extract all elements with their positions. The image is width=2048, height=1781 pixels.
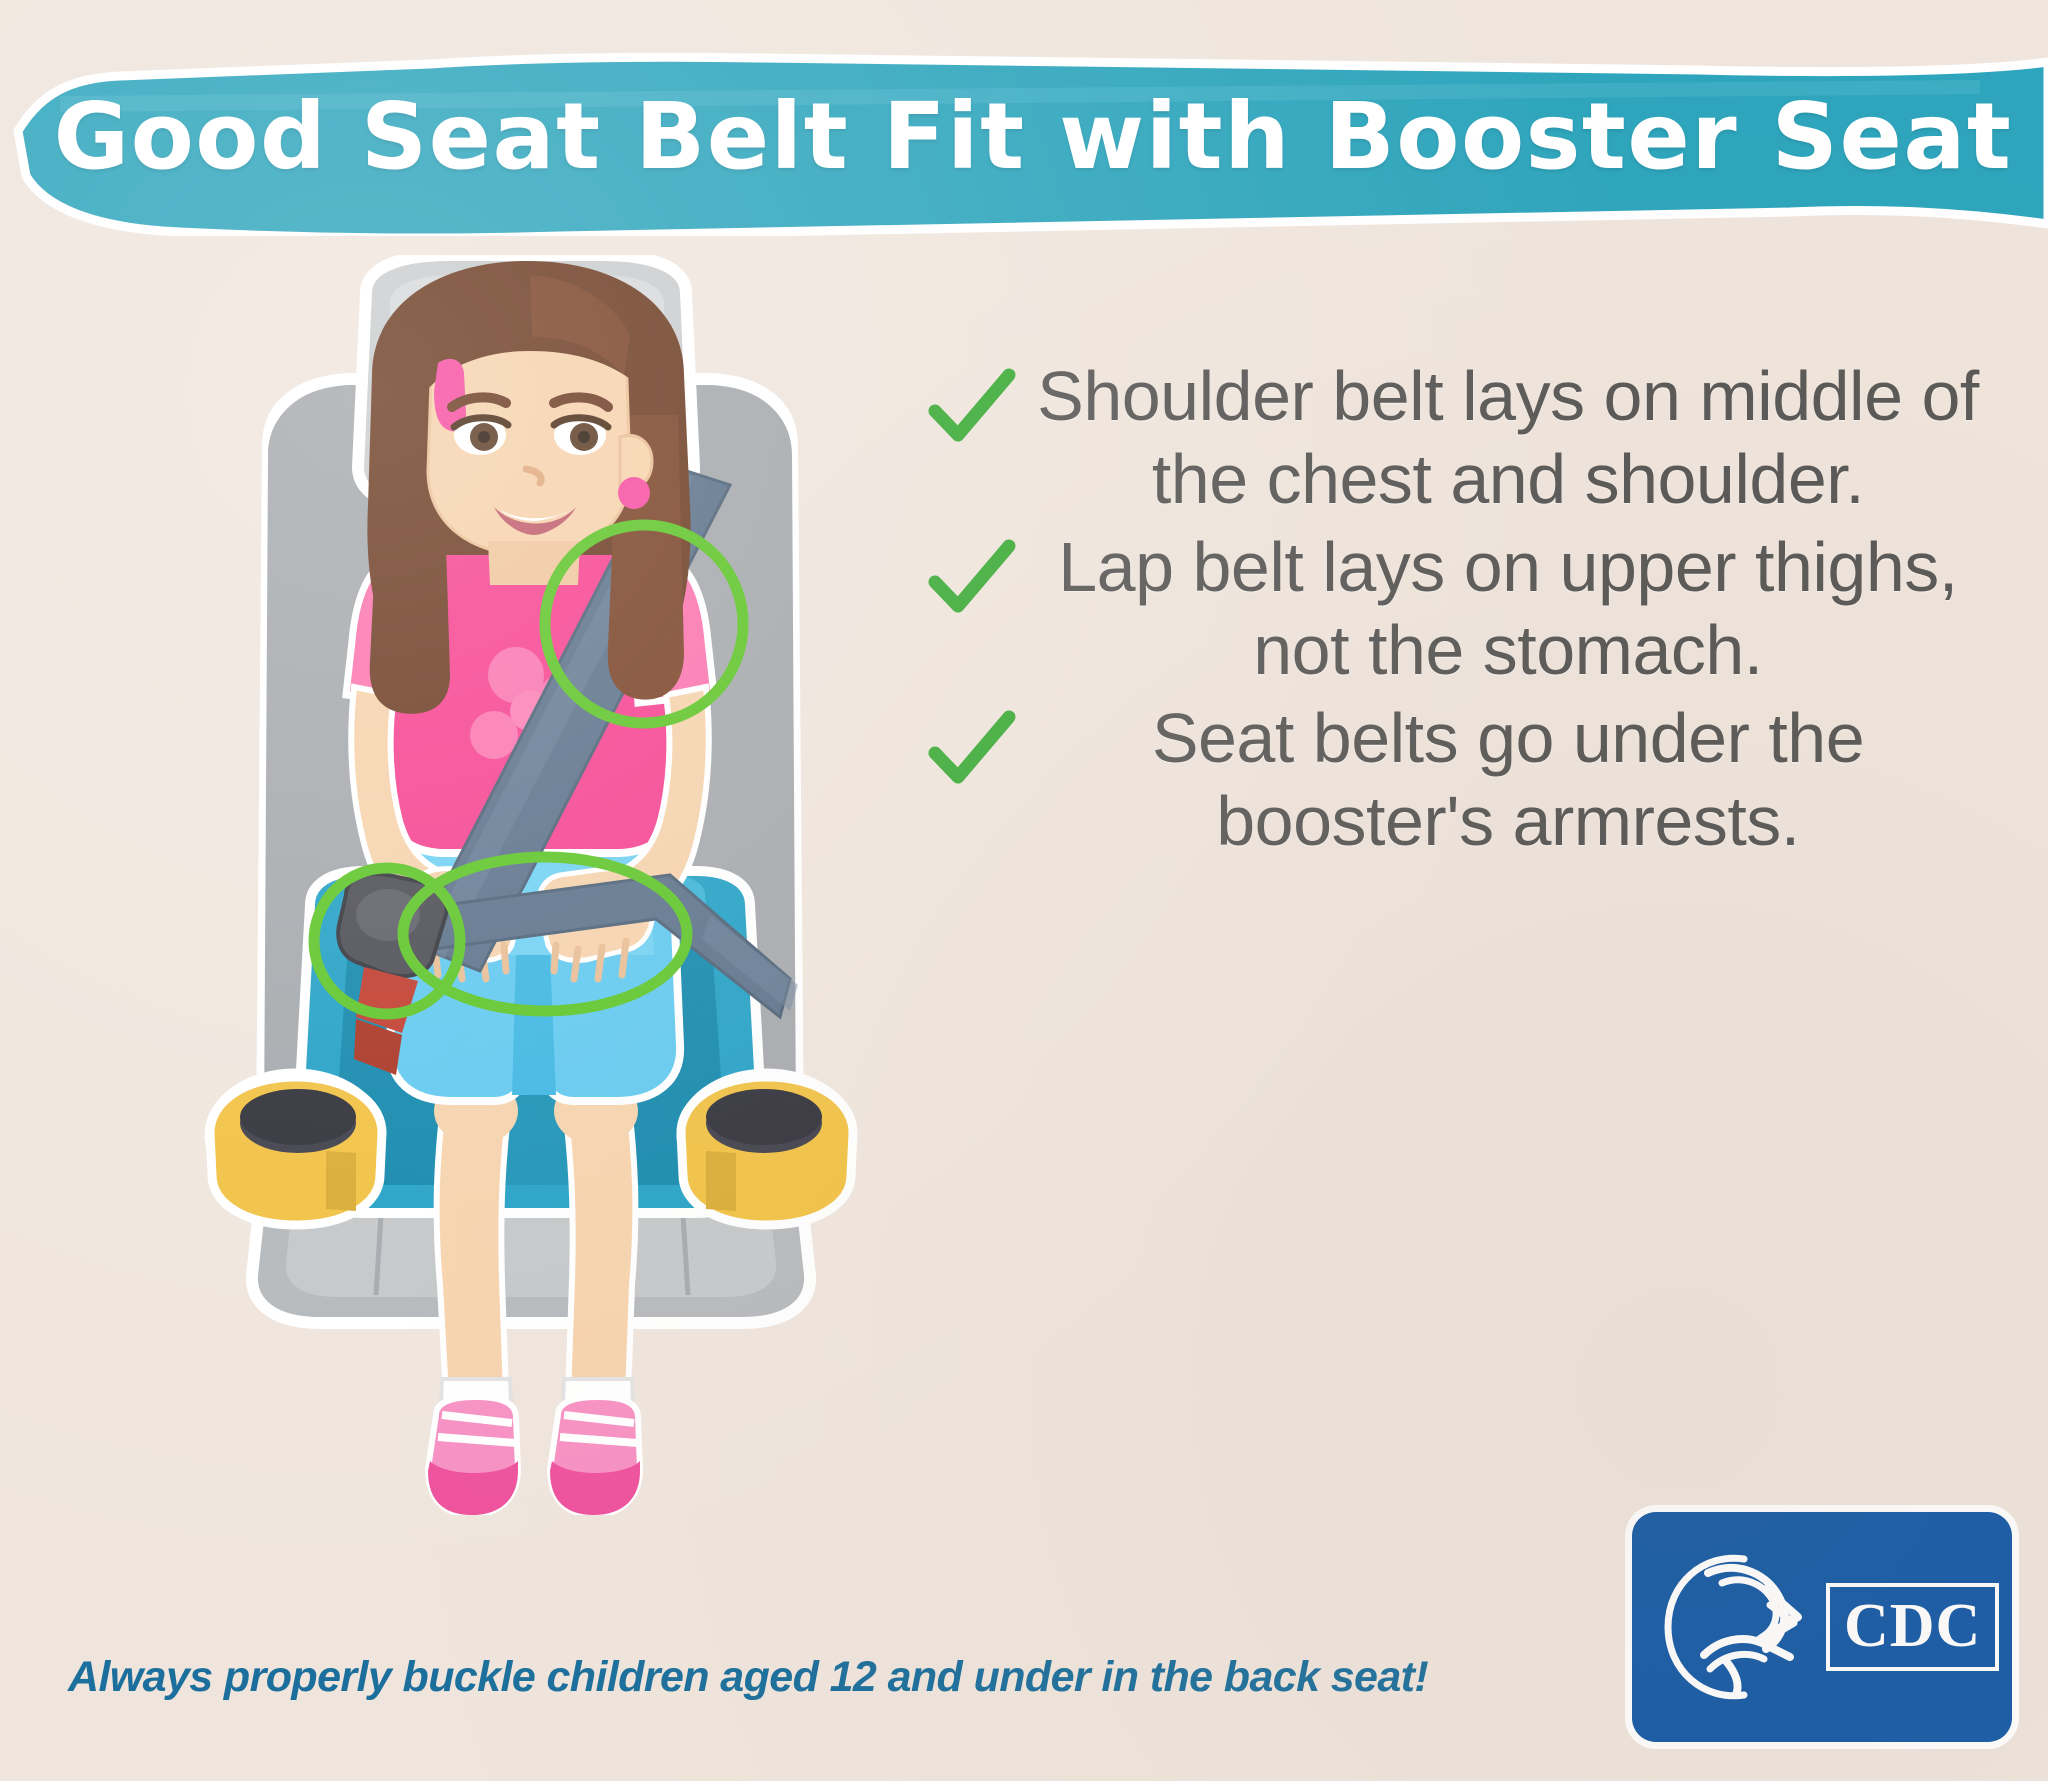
green-checkmark-icon	[925, 363, 1017, 455]
list-item: Lap belt lays on upper thighs, not the s…	[925, 526, 2005, 691]
booster-armrest-left	[209, 1073, 382, 1225]
list-item: Shoulder belt lays on middle of the ches…	[925, 355, 2005, 520]
page-title: Good Seat Belt Fit with Booster Seat	[0, 36, 2048, 236]
list-item: Seat belts go under the booster's armres…	[925, 697, 2005, 862]
tip-text: Shoulder belt lays on middle of the ches…	[1017, 355, 2005, 520]
booster-armrest-right	[681, 1073, 853, 1225]
infographic-poster: Good Seat Belt Fit with Booster Seat	[0, 0, 2048, 1781]
cdc-logo: CDC	[1632, 1512, 2012, 1742]
illustration-canvas	[150, 255, 910, 1515]
tip-text: Seat belts go under the booster's armres…	[1017, 697, 2005, 862]
green-checkmark-icon	[925, 705, 1017, 797]
green-checkmark-icon	[925, 534, 1017, 626]
footer-caption: Always properly buckle children aged 12 …	[68, 1653, 1568, 1702]
tip-text: Lap belt lays on upper thighs, not the s…	[1017, 526, 2005, 691]
earring-icon	[618, 477, 650, 509]
child-shoes	[428, 1397, 640, 1515]
cdc-wordmark: CDC	[1826, 1583, 1999, 1671]
tips-list: Shoulder belt lays on middle of the ches…	[925, 355, 2005, 869]
header-banner: Good Seat Belt Fit with Booster Seat	[0, 36, 2048, 236]
hhs-seal-icon	[1648, 1543, 1816, 1711]
child-in-booster-seat-illustration	[150, 255, 910, 1515]
